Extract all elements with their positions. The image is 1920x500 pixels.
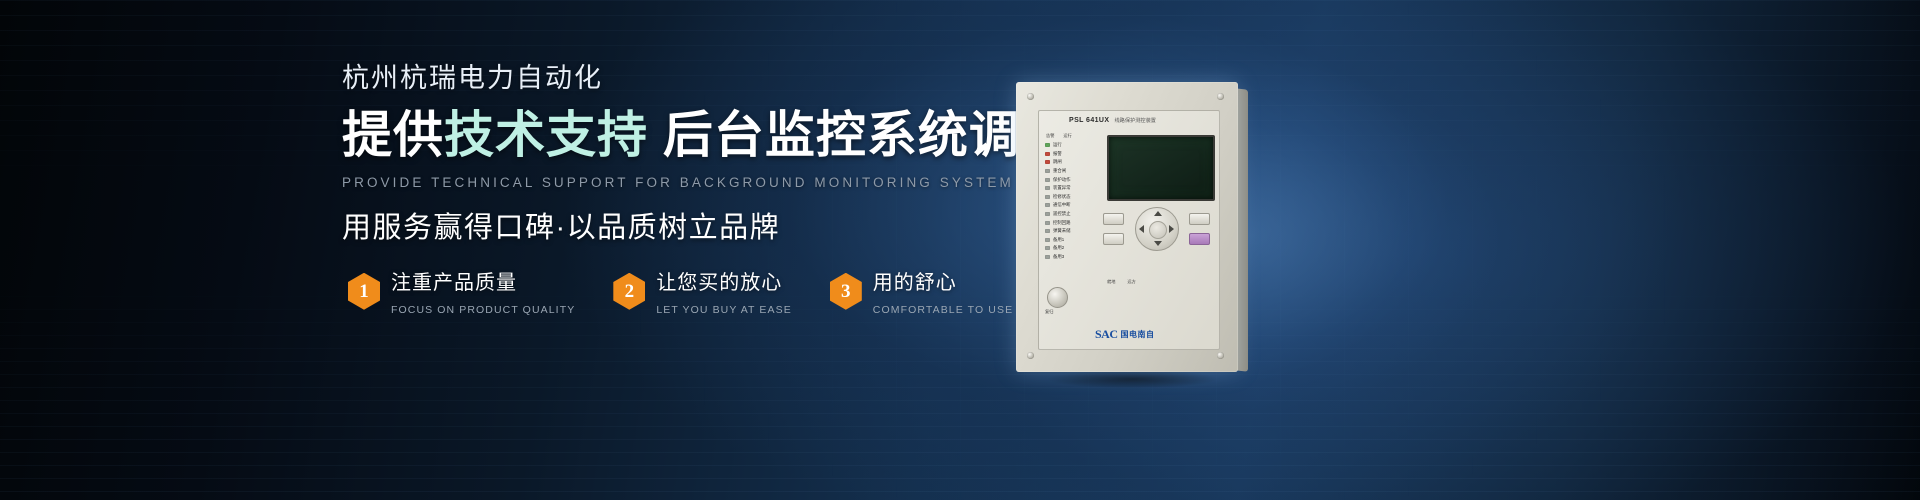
hexagon-icon: 2 (613, 273, 645, 310)
device-keypad (1103, 207, 1215, 269)
led-label: 跳闸 (1053, 159, 1062, 165)
feature-label-en: FOCUS ON PRODUCT QUALITY (391, 304, 575, 316)
keypad-button-confirm[interactable] (1103, 213, 1124, 225)
reset-knob[interactable] (1047, 287, 1068, 308)
led-row: 备用1 (1045, 236, 1101, 245)
feature-item: 1 注重产品质量 FOCUS ON PRODUCT QUALITY (348, 270, 575, 316)
mode-label-local: 就地 (1107, 279, 1115, 285)
hexagon-badge-3: 3 (830, 273, 862, 310)
led-icon (1045, 246, 1050, 250)
headline-part-1: 提供 (342, 107, 444, 163)
device-model-label: PSL 641UX线路保护测控装置 (1069, 117, 1156, 124)
led-row: 备用2 (1045, 244, 1101, 253)
hexagon-icon: 1 (348, 273, 380, 310)
arrow-left-icon (1139, 225, 1144, 233)
led-label: 通信中断 (1053, 202, 1071, 208)
led-icon (1045, 229, 1050, 233)
arrow-down-icon (1154, 241, 1162, 246)
arrow-up-icon (1154, 211, 1162, 216)
screw-icon (1027, 93, 1034, 100)
device-brand-logo: SAC 国电南自 (1095, 327, 1155, 342)
reset-knob-label: 复归 (1045, 309, 1053, 315)
led-row: 装置异常 (1045, 184, 1101, 193)
led-header-alarm: 告警 (1046, 133, 1054, 139)
lcd-display-screen (1107, 135, 1215, 201)
led-row: 备用3 (1045, 253, 1101, 262)
feature-label-en: LET YOU BUY AT EASE (656, 304, 791, 316)
feature-text: 注重产品质量 FOCUS ON PRODUCT QUALITY (391, 270, 575, 316)
led-row: 重合闸 (1045, 167, 1101, 176)
brand-mark-text: SAC (1095, 327, 1118, 342)
feature-label-cn: 用的舒心 (873, 270, 1013, 296)
mode-label-remote: 远方 (1127, 279, 1135, 285)
led-row: 弹簧未储 (1045, 227, 1101, 236)
led-row: 通信中断 (1045, 201, 1101, 210)
led-icon (1045, 203, 1050, 207)
led-icon (1045, 178, 1050, 182)
led-icon (1045, 152, 1050, 156)
led-row: 跳闸 (1045, 158, 1101, 167)
keypad-button-quit[interactable] (1189, 213, 1210, 225)
keypad-button-cancel[interactable] (1103, 233, 1124, 245)
led-label: 装置异常 (1053, 185, 1071, 191)
feature-label-cn: 让您买的放心 (656, 270, 791, 296)
led-row: 保护动作 (1045, 175, 1101, 184)
badge-number: 2 (625, 282, 635, 301)
led-column-headers: 告警 运行 (1045, 133, 1101, 139)
hexagon-badge-2: 2 (613, 273, 645, 310)
screw-icon (1027, 352, 1034, 359)
led-icon (1045, 160, 1050, 164)
subtitle-english: PROVIDE TECHNICAL SUPPORT FOR BACKGROUND… (342, 175, 982, 190)
led-icon (1045, 169, 1050, 173)
feature-list: 1 注重产品质量 FOCUS ON PRODUCT QUALITY 2 让您买的… (342, 270, 982, 316)
headline: 提供技术支持 后台监控系统调试 (342, 106, 982, 165)
keypad-button-reset[interactable] (1189, 233, 1210, 245)
led-row: 检修状态 (1045, 193, 1101, 202)
led-row: 报警 (1045, 150, 1101, 159)
device-model-text: PSL 641UX (1069, 117, 1109, 124)
led-label: 控制回路 (1053, 220, 1071, 226)
led-indicator-panel: 告警 运行 运行 报警 跳闸 重合闸 保护动作 装置异常 检修状态 通信中断 遥… (1045, 133, 1101, 261)
feature-item: 2 让您买的放心 LET YOU BUY AT EASE (613, 270, 791, 316)
led-label: 检修状态 (1053, 194, 1071, 200)
led-label: 备用1 (1053, 237, 1064, 243)
device-model-subtitle: 线路保护测控装置 (1114, 118, 1156, 124)
led-label: 弹簧未储 (1053, 228, 1071, 234)
mode-labels: 就地 远方 (1107, 279, 1136, 285)
headline-accent: 技术支持 (444, 107, 648, 163)
led-icon (1045, 238, 1050, 242)
tagline: 用服务赢得口碑·以品质树立品牌 (342, 204, 982, 246)
banner-text-block: 杭州杭瑞电力自动化 提供技术支持 后台监控系统调试 PROVIDE TECHNI… (342, 62, 982, 316)
screw-icon (1217, 93, 1224, 100)
directional-pad[interactable] (1135, 207, 1179, 251)
feature-text: 让您买的放心 LET YOU BUY AT EASE (656, 270, 791, 316)
led-label: 运行 (1053, 142, 1062, 148)
screw-icon (1217, 352, 1224, 359)
headline-part-3: 后台监控系统调试 (648, 107, 1071, 163)
led-icon (1045, 195, 1050, 199)
feature-item: 3 用的舒心 COMFORTABLE TO USE (830, 270, 1013, 316)
brand-name-cn: 国电南自 (1121, 329, 1155, 340)
protection-relay-device: PSL 641UX线路保护测控装置 告警 运行 运行 报警 跳闸 重合闸 保护动… (1016, 82, 1238, 372)
led-icon (1045, 255, 1050, 259)
feature-label-en: COMFORTABLE TO USE (873, 304, 1013, 316)
device-faceplate: PSL 641UX线路保护测控装置 告警 运行 运行 报警 跳闸 重合闸 保护动… (1038, 110, 1220, 350)
feature-text: 用的舒心 COMFORTABLE TO USE (873, 270, 1013, 316)
company-name: 杭州杭瑞电力自动化 (342, 62, 982, 96)
led-icon (1045, 186, 1050, 190)
led-label: 备用3 (1053, 254, 1064, 260)
hero-banner: 杭州杭瑞电力自动化 提供技术支持 后台监控系统调试 PROVIDE TECHNI… (0, 0, 1920, 500)
arrow-right-icon (1169, 225, 1174, 233)
hexagon-icon: 3 (830, 273, 862, 310)
feature-label-cn: 注重产品质量 (391, 270, 575, 296)
product-image: PSL 641UX线路保护测控装置 告警 运行 运行 报警 跳闸 重合闸 保护动… (1010, 78, 1260, 378)
led-header-run: 运行 (1063, 133, 1071, 139)
led-label: 报警 (1053, 151, 1062, 157)
dpad-center-button[interactable] (1149, 221, 1167, 239)
led-label: 重合闸 (1053, 168, 1066, 174)
led-label: 保护动作 (1053, 177, 1071, 183)
badge-number: 1 (359, 282, 369, 301)
led-label: 遥控禁止 (1053, 211, 1071, 217)
led-row: 控制回路 (1045, 218, 1101, 227)
led-row: 遥控禁止 (1045, 210, 1101, 219)
led-icon (1045, 143, 1050, 147)
led-icon (1045, 212, 1050, 216)
badge-number: 3 (841, 282, 851, 301)
led-label: 备用2 (1053, 245, 1064, 251)
led-icon (1045, 221, 1050, 225)
led-row: 运行 (1045, 141, 1101, 150)
hexagon-badge-1: 1 (348, 273, 380, 310)
